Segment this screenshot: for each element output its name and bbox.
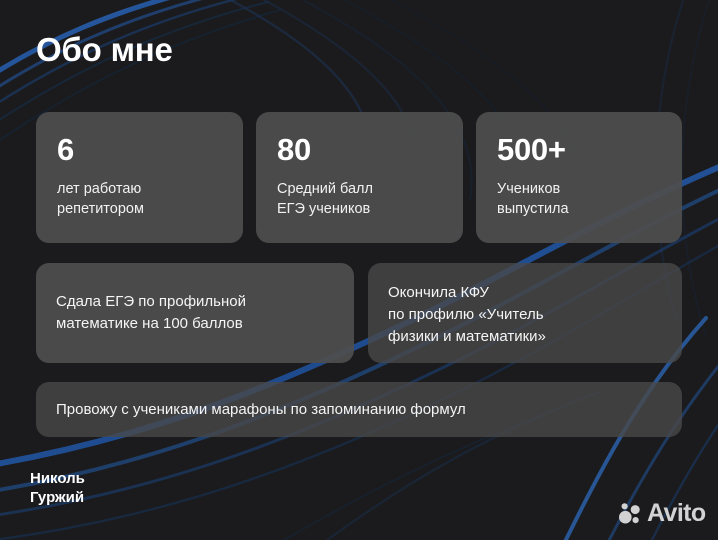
slide-canvas: Обо мне 6 лет работаю репетитором 80 Сре… <box>0 0 718 540</box>
slide-content: Обо мне 6 лет работаю репетитором 80 Сре… <box>0 0 718 540</box>
stat-label: Учеников выпустила <box>497 179 569 219</box>
stat-value: 6 <box>57 132 74 168</box>
fact-card-exam-score: Сдала ЕГЭ по профильной математике на 10… <box>36 263 354 363</box>
author-name: Николь Гуржий <box>30 469 85 507</box>
page-title: Обо мне <box>36 31 173 69</box>
fact-text: Окончила КФУ по профилю «Учитель физики … <box>388 282 546 348</box>
stat-value: 500+ <box>497 132 566 168</box>
stat-card-years: 6 лет работаю репетитором <box>36 112 243 243</box>
stat-label: Средний балл ЕГЭ учеников <box>277 179 373 219</box>
avito-logo: Avito <box>617 501 706 526</box>
fact-card-education: Окончила КФУ по профилю «Учитель физики … <box>368 263 682 363</box>
fact-text: Провожу с учениками марафоны по запомина… <box>56 399 466 421</box>
stat-label: лет работаю репетитором <box>57 179 144 219</box>
avito-wordmark: Avito <box>647 501 706 526</box>
fact-text: Сдала ЕГЭ по профильной математике на 10… <box>56 291 246 335</box>
stat-card-students-graduated: 500+ Учеников выпустила <box>476 112 682 243</box>
stat-card-average-score: 80 Средний балл ЕГЭ учеников <box>256 112 463 243</box>
fact-card-marathons: Провожу с учениками марафоны по запомина… <box>36 382 682 437</box>
stat-value: 80 <box>277 132 311 168</box>
avito-dots-icon <box>617 501 642 526</box>
